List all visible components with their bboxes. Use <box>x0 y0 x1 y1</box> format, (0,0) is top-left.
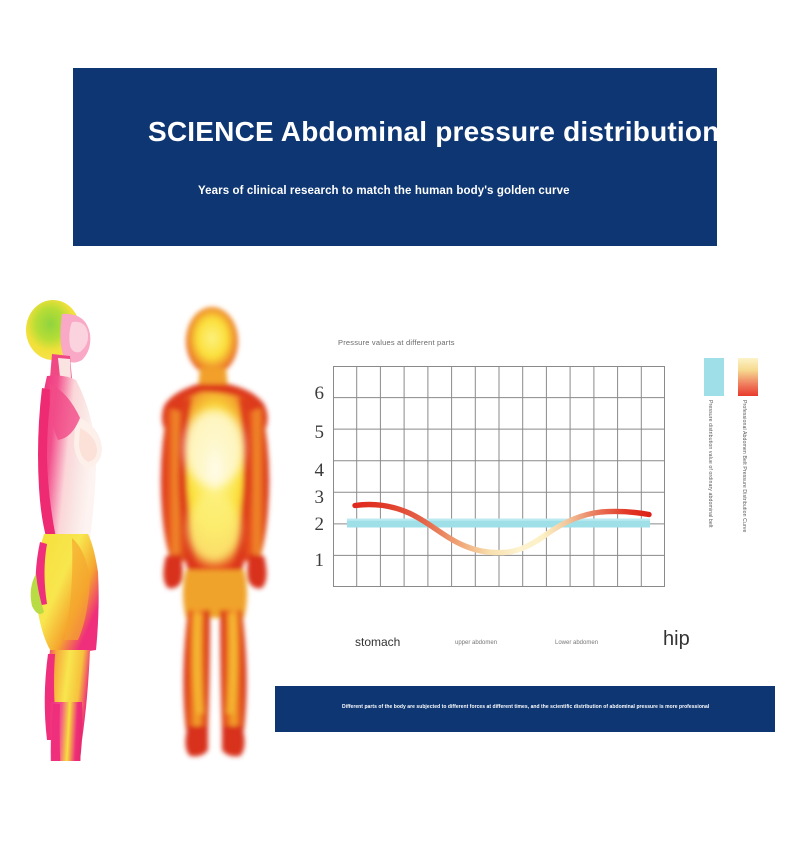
chart-legend: Pressure distribution value of ordinary … <box>700 358 770 608</box>
y-axis-tick: 1 <box>302 551 324 570</box>
y-axis-tick: 2 <box>302 515 324 534</box>
legend-label-professional-belt: Professional Abdomen Belt Pressure Distr… <box>741 400 747 532</box>
series-ordinary-belt-band <box>347 519 650 528</box>
front-view-thermal-body <box>150 288 290 763</box>
x-axis-label-upper-abdomen: upper abdomen <box>455 640 497 646</box>
footer-caption: Different parts of the body are subjecte… <box>342 704 765 710</box>
series-professional-belt-curve <box>355 504 649 552</box>
header-banner: SCIENCE Abdominal pressure distribution … <box>73 68 717 246</box>
y-axis-tick: 5 <box>302 423 324 442</box>
pressure-chart: Pressure values at different parts 6 5 4… <box>305 330 705 625</box>
y-axis-tick: 3 <box>302 488 324 507</box>
chart-title: Pressure values at different parts <box>338 338 455 347</box>
plot-area: stomach upper abdomen Lower abdomen hip <box>333 366 665 587</box>
side-profile-thermal-body <box>20 288 138 761</box>
y-axis-tick: 6 <box>302 384 324 403</box>
x-axis-label-lower-abdomen: Lower abdomen <box>555 640 598 646</box>
legend-item-ordinary-belt: Pressure distribution value of ordinary … <box>704 358 724 396</box>
legend-swatch-gradient <box>738 358 758 396</box>
x-axis-label-hip: hip <box>663 628 690 651</box>
footer-banner: Different parts of the body are subjecte… <box>275 686 775 732</box>
chart-series-layer <box>333 366 665 587</box>
legend-item-professional-belt: Professional Abdomen Belt Pressure Distr… <box>738 358 758 396</box>
legend-label-ordinary-belt: Pressure distribution value of ordinary … <box>707 400 713 528</box>
page-title: SCIENCE Abdominal pressure distribution <box>148 116 720 148</box>
legend-swatch-cyan <box>704 358 724 396</box>
x-axis-label-stomach: stomach <box>355 635 400 649</box>
y-axis-tick: 4 <box>302 461 324 480</box>
page-subtitle: Years of clinical research to match the … <box>198 185 570 197</box>
